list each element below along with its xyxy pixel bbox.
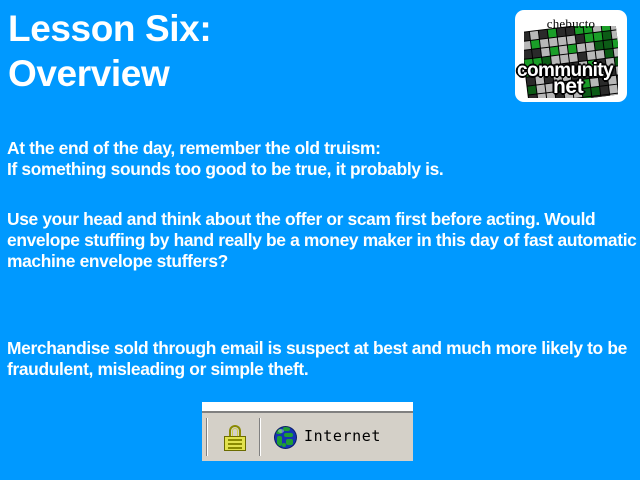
status-bar-divider [259, 418, 261, 456]
body-paragraph-3: Merchandise sold through email is suspec… [7, 338, 639, 380]
body-paragraph-2: Use your head and think about the offer … [7, 209, 639, 272]
status-bar-divider [206, 418, 208, 456]
page-title: Lesson Six: Overview [8, 6, 508, 96]
body-paragraph-1: At the end of the day, remember the old … [7, 138, 639, 180]
padlock-icon [224, 425, 246, 451]
status-bar-zone-label: Internet [304, 427, 381, 445]
logo-chebucto-text: chebucto [515, 16, 627, 32]
slide-canvas: Lesson Six: Overview chebucto community … [0, 0, 640, 480]
logo-net-text: net [553, 75, 583, 99]
internet-explorer-status-bar: Internet [202, 411, 413, 461]
status-bar-image: Internet [202, 402, 413, 461]
chebucto-community-net-logo: chebucto community net [515, 10, 627, 102]
globe-icon [275, 427, 296, 448]
